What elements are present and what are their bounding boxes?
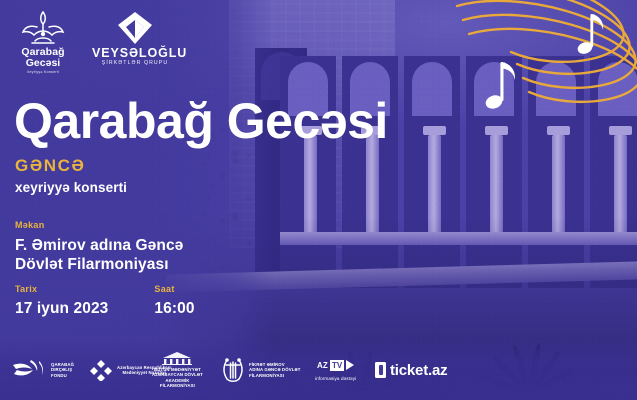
media-partner-caption: informasiya dəstəyi — [315, 376, 356, 381]
time-value: 16:00 — [154, 299, 194, 318]
venue-label: Məkan — [15, 221, 285, 230]
diamond-v-mark-icon — [117, 11, 153, 45]
venue-name: F. Əmirov adına Gəncə Dövlət Filarmoniya… — [15, 236, 285, 274]
logo-qarabag-line2: Gecəsi — [14, 58, 72, 69]
date-value: 17 iyun 2023 — [15, 299, 108, 318]
page-title: Qarabağ Gecəsi — [14, 96, 388, 146]
logo-qarabag-line3: Xeyriyyə Konserti — [14, 70, 72, 74]
footer-logo-text: Qarabağ Dirçəliş Fondu — [51, 362, 74, 379]
bird-wing-icon — [12, 358, 46, 382]
building-icon — [157, 352, 197, 365]
event-poster: Qarabağ Gecəsi Xeyriyyə Konserti VEYSƏLO… — [0, 0, 637, 400]
date-block: Tarix 17 iyun 2023 — [15, 285, 108, 318]
footer-logo-text: FİKRƏT ƏMİROV ADINA GƏNCƏ DÖVLƏT FİLARMO… — [249, 362, 300, 379]
venue-block: Məkan F. Əmirov adına Gəncə Dövlət Filar… — [15, 221, 285, 274]
header-logos: Qarabağ Gecəsi Xeyriyyə Konserti VEYSƏLO… — [14, 10, 178, 74]
ornamental-emblem-icon — [21, 10, 65, 46]
event-type-label: xeyriyyə konserti — [15, 181, 127, 195]
lyre-icon — [222, 357, 244, 383]
time-block: Saat 16:00 — [154, 285, 194, 318]
logo-veyseloglu-sub: ŞİRKƏTLƏR QRUPU — [92, 61, 178, 67]
datetime-block: Tarix 17 iyun 2023 Saat 16:00 — [15, 285, 195, 318]
city-label: GƏNCƏ — [15, 157, 85, 174]
footer-logo-fikret-emirov-filarmoniyasi[interactable]: FİKRƏT ƏMİROV ADINA GƏNCƏ DÖVLƏT FİLARMO… — [222, 357, 300, 383]
footer-logo-azerbaycan-dovlet-filarmoniyasi[interactable]: BÜTÜN MƏDƏNİYYƏT AZƏRBAYCAN DÖVLƏT AKADE… — [152, 352, 203, 389]
aztv-tv-label: TV — [330, 360, 344, 371]
aztv-az-label: AZ — [317, 361, 328, 370]
footer-logo-strip: Qarabağ Dirçəliş Fondu Azərbaycan Respub… — [0, 346, 637, 394]
carpet-ornament-icon — [90, 359, 112, 381]
play-triangle-icon — [346, 360, 354, 370]
date-label: Tarix — [15, 285, 108, 294]
logo-qarabag-gecesi[interactable]: Qarabağ Gecəsi Xeyriyyə Konserti — [14, 10, 72, 74]
footer-media-partner-aztv[interactable]: AZ TV informasiya dəstəyi — [315, 360, 356, 381]
iticket-name: ticket.az — [390, 362, 447, 379]
time-label: Saat — [154, 285, 194, 294]
aztv-logo: AZ TV — [317, 360, 354, 371]
logo-veyseloglu-name: VEYSƏLOĞLU — [92, 47, 178, 60]
i-ticket-badge-icon — [375, 362, 386, 378]
footer-logo-qarabag-dircelis-fondu[interactable]: Qarabağ Dirçəliş Fondu — [12, 358, 74, 382]
footer-ticketing-iticket[interactable]: ticket.az — [375, 362, 447, 379]
footer-logo-text: BÜTÜN MƏDƏNİYYƏT AZƏRBAYCAN DÖVLƏT AKADE… — [152, 367, 203, 389]
logo-veyseloglu[interactable]: VEYSƏLOĞLU ŞİRKƏTLƏR QRUPU — [92, 10, 178, 67]
